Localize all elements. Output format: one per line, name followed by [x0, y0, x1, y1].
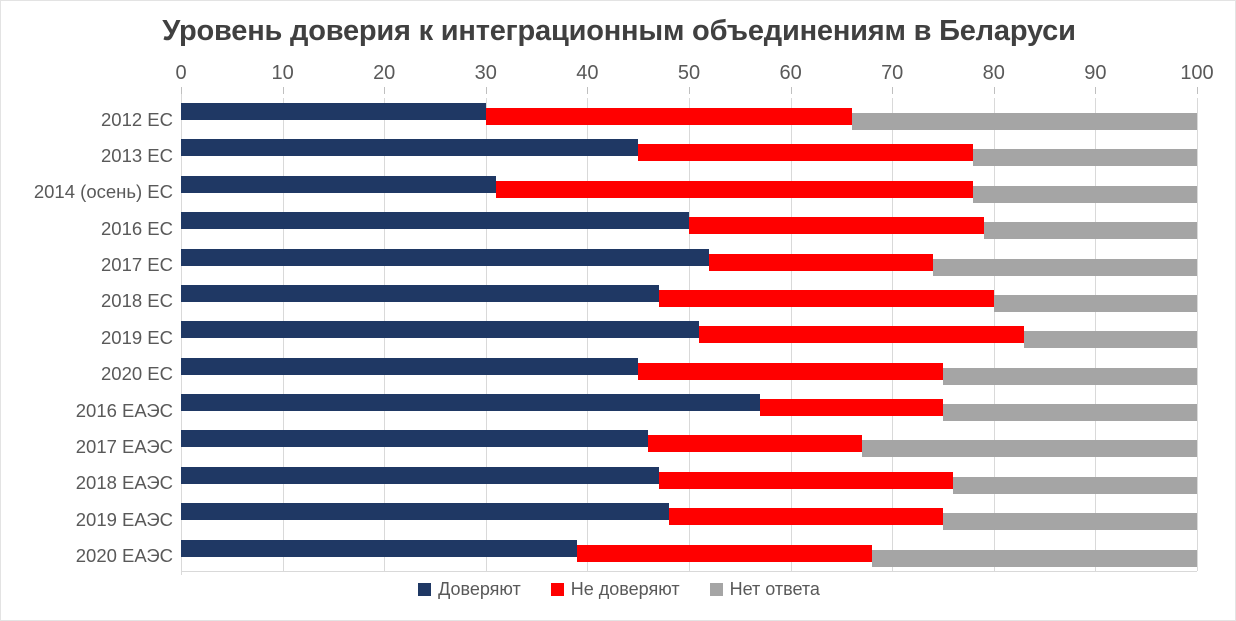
bar-segment-trust	[181, 503, 669, 520]
bar-segment-distrust	[699, 326, 1024, 343]
top-tick-90	[1095, 87, 1096, 94]
legend-swatch-icon	[418, 583, 431, 596]
category-label-9: 2017 ЕАЭС	[1, 436, 173, 458]
bar-segment-distrust	[760, 399, 943, 416]
category-label-12: 2020 ЕАЭС	[1, 545, 173, 567]
bar-segment-distrust	[689, 217, 984, 234]
x-axis-tick-0: 0	[175, 62, 186, 85]
category-label-1: 2013 ЕС	[1, 145, 173, 167]
category-label-8: 2016 ЕАЭС	[1, 400, 173, 422]
bar-segment-distrust	[648, 435, 861, 452]
top-tick-70	[892, 87, 893, 94]
category-axis-line	[181, 571, 1197, 572]
category-label-10: 2018 ЕАЭС	[1, 472, 173, 494]
legend-label: Не доверяют	[571, 579, 680, 600]
x-axis-tick-20: 20	[373, 62, 395, 85]
chart-container: Уровень доверия к интеграционным объедин…	[0, 0, 1236, 621]
x-axis-tick-80: 80	[983, 62, 1005, 85]
x-axis-tick-90: 90	[1084, 62, 1106, 85]
bar-segment-trust	[181, 139, 638, 156]
legend-item-1[interactable]: Не доверяют	[551, 579, 680, 600]
bar-segment-distrust	[638, 363, 943, 380]
bar-segment-distrust	[496, 181, 974, 198]
bar-segment-no-answer	[872, 550, 1197, 567]
bar-segment-no-answer	[984, 222, 1197, 239]
x-axis-tick-10: 10	[271, 62, 293, 85]
bar-segment-no-answer	[943, 368, 1197, 385]
top-tick-50	[689, 87, 690, 94]
bar-segment-trust	[181, 249, 709, 266]
bar-segment-trust	[181, 358, 638, 375]
legend-item-2[interactable]: Нет ответа	[710, 579, 820, 600]
bar-segment-distrust	[659, 472, 954, 489]
legend-label: Нет ответа	[730, 579, 820, 600]
top-tick-30	[486, 87, 487, 94]
legend-swatch-icon	[710, 583, 723, 596]
bar-segment-no-answer	[852, 113, 1197, 130]
category-label-11: 2019 ЕАЭС	[1, 509, 173, 531]
x-axis-tick-40: 40	[576, 62, 598, 85]
bar-segment-trust	[181, 285, 659, 302]
bar-segment-distrust	[486, 108, 852, 125]
bar-segment-trust	[181, 212, 689, 229]
category-label-0: 2012 ЕС	[1, 109, 173, 131]
bar-segment-trust	[181, 540, 577, 557]
bar-segment-trust	[181, 321, 699, 338]
bar-segment-no-answer	[943, 404, 1197, 421]
category-label-3: 2016 ЕС	[1, 218, 173, 240]
bar-segment-trust	[181, 176, 496, 193]
bar-segment-no-answer	[1024, 331, 1197, 348]
bar-segment-trust	[181, 394, 760, 411]
top-tick-10	[283, 87, 284, 94]
legend-label: Доверяют	[438, 579, 521, 600]
x-axis-tick-100: 100	[1180, 62, 1213, 85]
bar-segment-distrust	[659, 290, 994, 307]
x-axis-tick-30: 30	[475, 62, 497, 85]
gridline-100	[1197, 98, 1198, 571]
category-label-6: 2019 ЕС	[1, 327, 173, 349]
bar-segment-trust	[181, 430, 648, 447]
top-tick-80	[994, 87, 995, 94]
chart-legend: ДоверяютНе доверяютНет ответа	[1, 579, 1236, 600]
top-tick-20	[384, 87, 385, 94]
bar-segment-distrust	[709, 254, 933, 271]
top-tick-0	[181, 87, 182, 94]
plot-area	[181, 98, 1197, 571]
bar-segment-no-answer	[943, 513, 1197, 530]
bar-segment-no-answer	[973, 186, 1197, 203]
bar-segment-no-answer	[933, 259, 1197, 276]
y-axis-category-labels: 2012 ЕС2013 ЕС2014 (осень) ЕС2016 ЕС2017…	[1, 98, 173, 571]
bar-segment-distrust	[638, 144, 973, 161]
bar-segment-distrust	[577, 545, 872, 562]
category-label-4: 2017 ЕС	[1, 254, 173, 276]
legend-item-0[interactable]: Доверяют	[418, 579, 521, 600]
chart-title: Уровень доверия к интеграционным объедин…	[1, 15, 1236, 48]
category-label-5: 2018 ЕС	[1, 290, 173, 312]
category-label-7: 2020 ЕС	[1, 363, 173, 385]
x-axis-tick-50: 50	[678, 62, 700, 85]
bar-segment-no-answer	[994, 295, 1197, 312]
bar-segment-no-answer	[953, 477, 1197, 494]
x-axis-tick-70: 70	[881, 62, 903, 85]
top-tick-60	[791, 87, 792, 94]
top-tick-40	[587, 87, 588, 94]
bar-segment-distrust	[669, 508, 943, 525]
bar-segment-trust	[181, 467, 659, 484]
bar-segment-no-answer	[973, 149, 1197, 166]
category-label-2: 2014 (осень) ЕС	[1, 181, 173, 203]
x-axis-tick-60: 60	[779, 62, 801, 85]
top-tick-100	[1197, 87, 1198, 94]
bar-segment-no-answer	[862, 440, 1197, 457]
bar-segment-trust	[181, 103, 486, 120]
legend-swatch-icon	[551, 583, 564, 596]
